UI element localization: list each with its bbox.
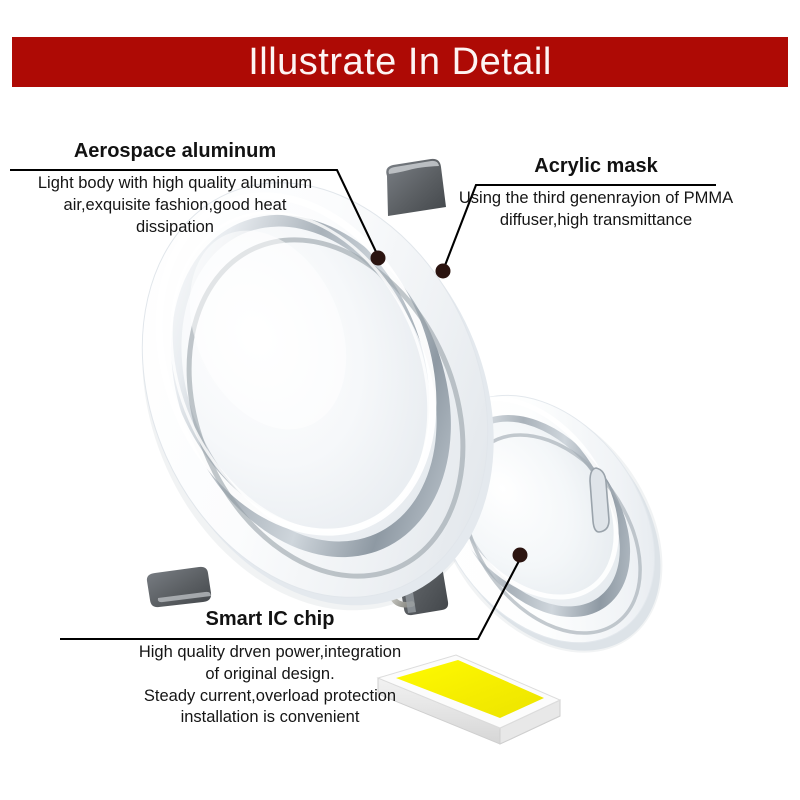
callout-line: of original design. [60, 664, 480, 686]
infographic-page: Illustrate In Detail [0, 0, 800, 800]
callout-acrylic-mask: Acrylic mask Using the third genenrayion… [472, 155, 720, 232]
callout-body-smart-ic: High quality drven power,integration of … [60, 636, 480, 729]
callout-smart-ic-chip: Smart IC chip High quality drven power,i… [60, 608, 480, 729]
callout-line: air,exquisite fashion,good heat [10, 195, 340, 217]
callout-line: Steady current,overload protection [60, 686, 480, 708]
callout-heading-acrylic: Acrylic mask [472, 155, 720, 177]
callout-body-aerospace: Light body with high quality aluminum ai… [10, 168, 340, 238]
callout-line: Using the third genenrayion of PMMA [438, 188, 754, 210]
callout-body-acrylic: Using the third genenrayion of PMMA diff… [438, 183, 754, 232]
bottom-mounting-tab [147, 567, 211, 607]
callout-line: High quality drven power,integration [60, 642, 480, 664]
callout-aerospace-aluminum: Aerospace aluminum Light body with high … [10, 140, 340, 238]
callout-heading-aerospace: Aerospace aluminum [10, 140, 340, 162]
callout-line: diffuser,high transmittance [438, 210, 754, 232]
callout-heading-smart-ic: Smart IC chip [60, 608, 480, 630]
callout-line: dissipation [10, 217, 340, 239]
callout-line: installation is convenient [60, 707, 480, 729]
callout-line: Light body with high quality aluminum [10, 173, 340, 195]
